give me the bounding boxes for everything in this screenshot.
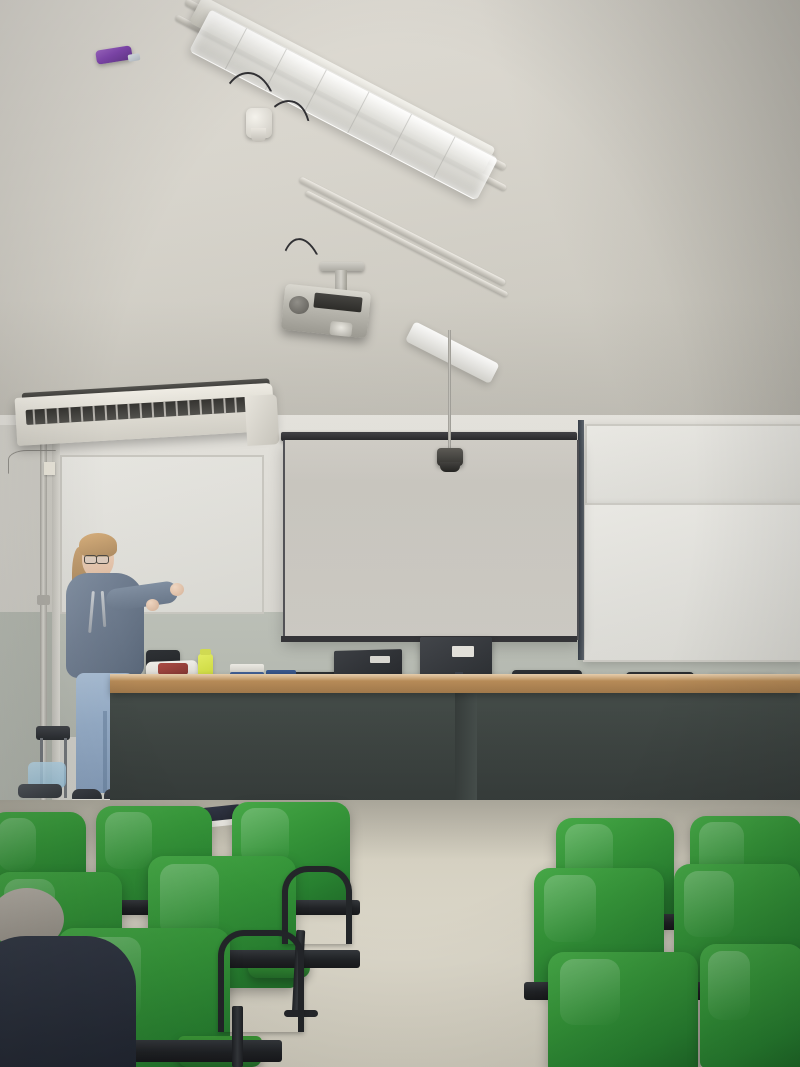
whiteboard-lower-right (583, 503, 800, 662)
projection-screen: Procediment Techniques in molecular biol… (283, 440, 579, 640)
hair-top (79, 533, 117, 557)
monitor-label (452, 646, 474, 657)
ceiling-speaker-rod (448, 330, 451, 452)
hand-right (170, 583, 184, 596)
desk-riser (455, 688, 477, 818)
jeans-seam (103, 711, 107, 793)
projector-lens (329, 321, 352, 337)
ceiling-speaker-base (440, 462, 460, 472)
pipe-clamp (37, 595, 50, 605)
chair-seatback[interactable] (700, 944, 800, 1067)
chair-armrest[interactable] (218, 930, 304, 1032)
laptop-sticker (370, 656, 390, 663)
desk-top-highlight (110, 674, 800, 681)
chair-leg (232, 1006, 243, 1067)
bottle-cap (200, 649, 211, 655)
whiteboard-upper-right (585, 424, 800, 506)
ac-end-cap (245, 394, 280, 446)
classroom-photo: Procediment Techniques in molecular biol… (0, 0, 800, 1067)
chair-armrest[interactable] (282, 866, 352, 944)
backpack-floor (18, 784, 62, 798)
seated-person-shoulder (0, 936, 136, 1067)
wall-note (44, 462, 55, 475)
eyeglasses-right-lens (96, 555, 109, 564)
chair-seatback[interactable] (548, 952, 698, 1067)
seated-audience-member (0, 888, 136, 1067)
hand-left (146, 599, 159, 611)
